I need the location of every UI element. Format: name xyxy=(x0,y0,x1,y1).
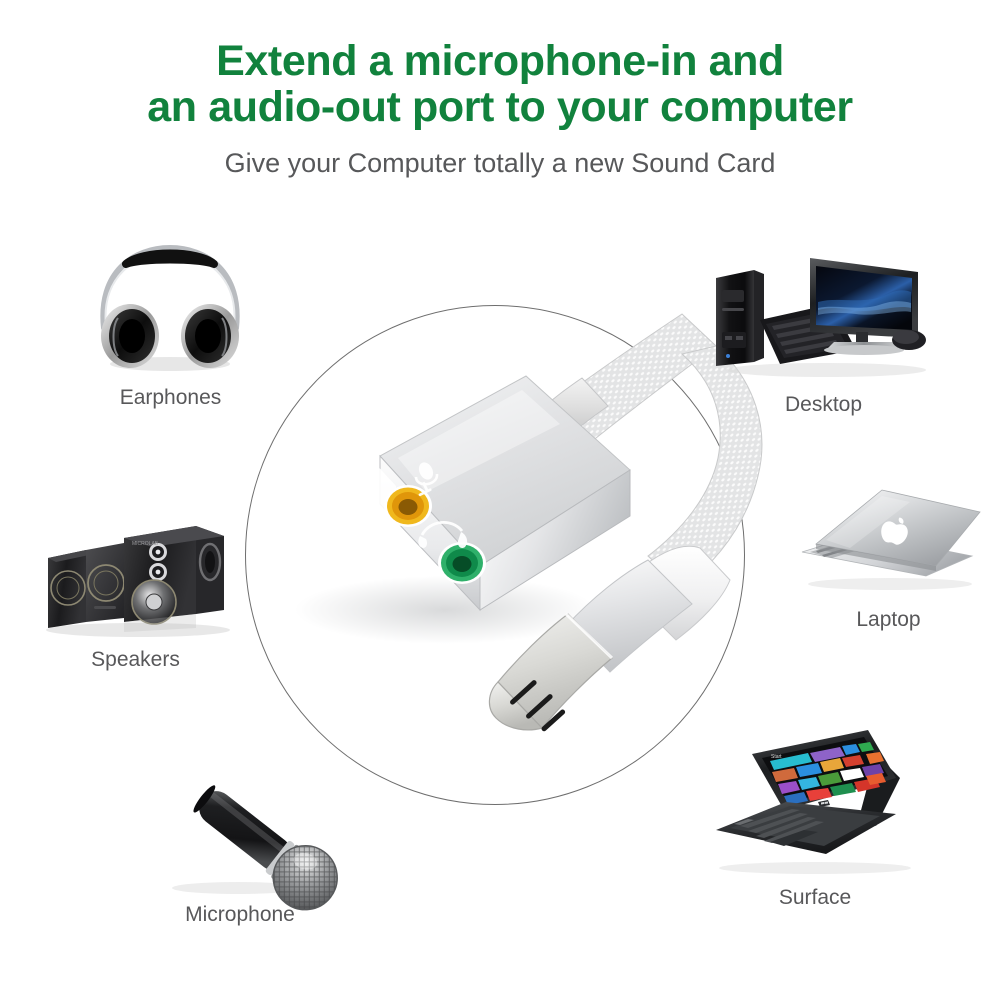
feature-desktop: Desktop xyxy=(706,246,941,417)
feature-label-speakers: Speakers xyxy=(28,648,243,672)
desktop-tower xyxy=(716,270,764,366)
feature-surface: Start xyxy=(700,718,930,910)
surface-tablet-icon: Start xyxy=(700,718,930,878)
laptop-icon xyxy=(786,478,991,596)
feature-microphone: Microphone xyxy=(140,762,340,927)
svg-text:Start: Start xyxy=(771,754,782,760)
product-marketing-image: Extend a microphone-in and an audio-out … xyxy=(0,0,1000,1000)
satellite-speaker-right xyxy=(86,543,124,622)
feature-label-earphones: Earphones xyxy=(68,386,273,410)
feature-earphones: Earphones xyxy=(68,236,273,410)
audio-out-jack xyxy=(438,542,486,584)
feature-label-surface: Surface xyxy=(700,886,930,910)
page-subheadline: Give your Computer totally a new Sound C… xyxy=(0,148,1000,179)
feature-label-desktop: Desktop xyxy=(706,393,941,417)
feature-laptop: Laptop xyxy=(786,478,991,632)
mouse xyxy=(892,330,926,350)
subwoofer: MICROLAB xyxy=(124,526,224,624)
desktop-computer-icon xyxy=(706,246,941,381)
svg-text:MICROLAB: MICROLAB xyxy=(132,541,159,547)
headline-line-1: Extend a microphone-in and xyxy=(216,37,784,85)
feature-speakers: MICROLAB Speakers xyxy=(28,510,243,672)
speakers-icon: MICROLAB xyxy=(28,510,243,640)
feature-label-laptop: Laptop xyxy=(786,608,991,632)
headline-line-2: an audio-out port to your computer xyxy=(0,84,1000,130)
page-headline: Extend a microphone-in and an audio-out … xyxy=(0,38,1000,130)
microphone-icon xyxy=(140,762,340,897)
headphones-icon xyxy=(68,236,273,376)
